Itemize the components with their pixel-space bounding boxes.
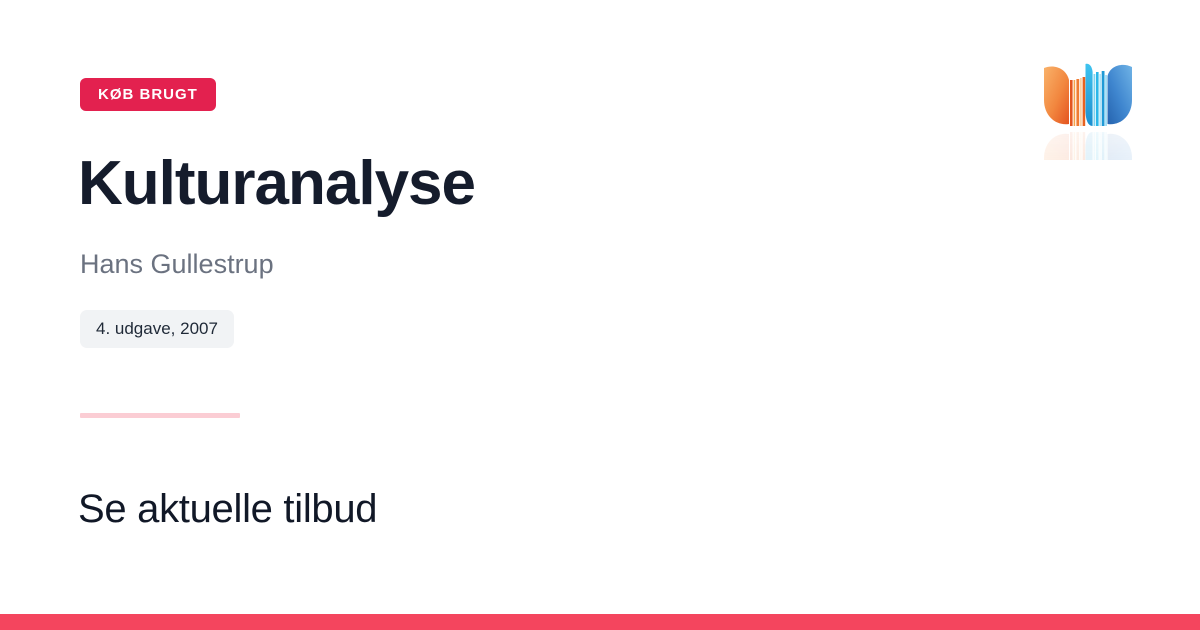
butterfly-barcode-logo	[1036, 50, 1146, 160]
book-promo-card: KØB BRUGT Kulturanalyse Hans Gullestrup …	[0, 0, 1200, 630]
edition-chip-label: 4. udgave, 2007	[96, 319, 218, 339]
condition-badge[interactable]: KØB BRUGT	[80, 78, 216, 111]
cta-text[interactable]: Se aktuelle tilbud	[78, 485, 377, 533]
book-author: Hans Gullestrup	[80, 248, 274, 280]
bottom-accent-bar	[0, 614, 1200, 630]
condition-badge-label: KØB BRUGT	[98, 86, 198, 103]
book-title: Kulturanalyse	[78, 153, 475, 215]
edition-chip: 4. udgave, 2007	[80, 310, 234, 348]
section-divider	[80, 413, 240, 418]
